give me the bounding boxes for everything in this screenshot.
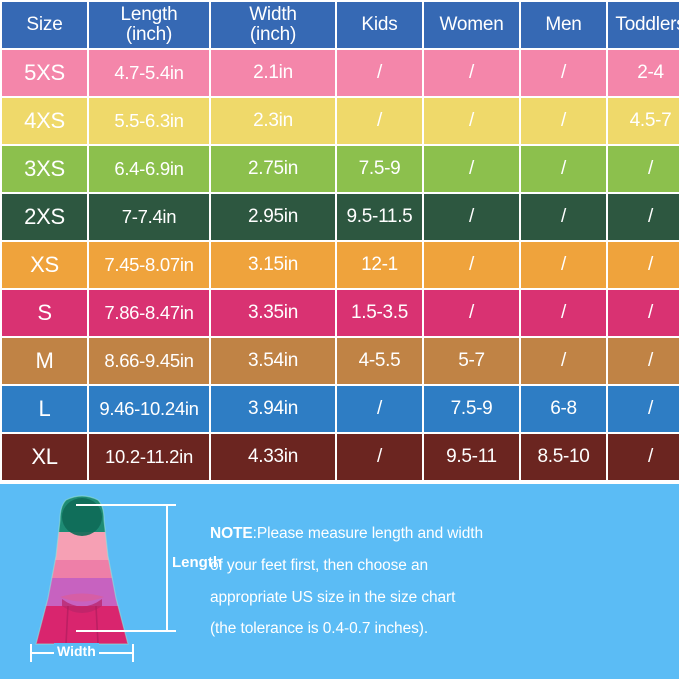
cell-women: / xyxy=(424,98,519,144)
cell-width: 4.33in xyxy=(211,434,335,480)
cell-toddlers: / xyxy=(608,290,679,336)
cell-women: 9.5-11 xyxy=(424,434,519,480)
length-label: Length xyxy=(172,554,222,571)
cell-kids: 1.5-3.5 xyxy=(337,290,422,336)
cell-size: L xyxy=(2,386,87,432)
note-line-text: appropriate US size in the size chart xyxy=(210,589,455,606)
cell-length: 9.46-10.24in xyxy=(89,386,209,432)
cell-men: / xyxy=(521,338,606,384)
width-arrow-right xyxy=(132,644,134,662)
note-line: of your feet first, then choose an xyxy=(210,550,661,582)
cell-length: 5.5-6.3in xyxy=(89,98,209,144)
cell-width: 2.75in xyxy=(211,146,335,192)
cell-length: 7.45-8.07in xyxy=(89,242,209,288)
length-arrow-bottom xyxy=(158,630,176,632)
table-row: S7.86-8.47in3.35in1.5-3.5/// xyxy=(2,290,679,336)
cell-women: / xyxy=(424,50,519,96)
length-leader-bottom xyxy=(76,630,166,632)
cell-women: / xyxy=(424,242,519,288)
cell-size: 4XS xyxy=(2,98,87,144)
length-arrow-top xyxy=(158,504,176,506)
cell-kids: 7.5-9 xyxy=(337,146,422,192)
cell-size: 2XS xyxy=(2,194,87,240)
column-header-kids: Kids xyxy=(337,2,422,48)
table-row: XS7.45-8.07in3.15in12-1/// xyxy=(2,242,679,288)
column-header-length: Length (inch) xyxy=(89,2,209,48)
column-header-size: Size xyxy=(2,2,87,48)
cell-toddlers: 2-4 xyxy=(608,50,679,96)
cell-length: 6.4-6.9in xyxy=(89,146,209,192)
cell-women: 7.5-9 xyxy=(424,386,519,432)
table-header: Size Length (inch) Width (inch) Kids Wom… xyxy=(2,2,679,48)
cell-toddlers: / xyxy=(608,386,679,432)
size-chart: Size Length (inch) Width (inch) Kids Wom… xyxy=(0,0,679,679)
cell-men: 6-8 xyxy=(521,386,606,432)
column-header-women: Women xyxy=(424,2,519,48)
note-text-block: NOTE:Please measure length and width of … xyxy=(206,484,679,679)
cell-length: 7-7.4in xyxy=(89,194,209,240)
cell-women: 5-7 xyxy=(424,338,519,384)
cell-size: M xyxy=(2,338,87,384)
note-label: NOTE xyxy=(210,525,253,542)
header-row: Size Length (inch) Width (inch) Kids Wom… xyxy=(2,2,679,48)
fin-diagram: Length Width xyxy=(0,484,206,679)
table-row: M8.66-9.45in3.54in4-5.55-7// xyxy=(2,338,679,384)
header-label: Size xyxy=(26,14,62,35)
width-arrow-left xyxy=(30,644,32,662)
cell-width: 3.35in xyxy=(211,290,335,336)
table-row: 4XS5.5-6.3in2.3in///4.5-7 xyxy=(2,98,679,144)
cell-size: S xyxy=(2,290,87,336)
width-label: Width xyxy=(54,643,99,659)
cell-kids: 12-1 xyxy=(337,242,422,288)
cell-length: 10.2-11.2in xyxy=(89,434,209,480)
table-row: L9.46-10.24in3.94in/7.5-96-8/ xyxy=(2,386,679,432)
cell-width: 2.3in xyxy=(211,98,335,144)
cell-toddlers: / xyxy=(608,146,679,192)
cell-length: 4.7-5.4in xyxy=(89,50,209,96)
cell-toddlers: / xyxy=(608,194,679,240)
table-row: 2XS7-7.4in2.95in9.5-11.5/// xyxy=(2,194,679,240)
cell-length: 8.66-9.45in xyxy=(89,338,209,384)
cell-width: 2.95in xyxy=(211,194,335,240)
column-header-toddlers: Toddlers xyxy=(608,2,679,48)
header-label: Men xyxy=(545,14,581,35)
cell-women: / xyxy=(424,146,519,192)
header-label: Kids xyxy=(361,14,397,35)
cell-width: 3.54in xyxy=(211,338,335,384)
cell-size: XL xyxy=(2,434,87,480)
cell-men: / xyxy=(521,194,606,240)
note-line-text: (the tolerance is 0.4-0.7 inches). xyxy=(210,620,428,637)
cell-kids: 9.5-11.5 xyxy=(337,194,422,240)
cell-width: 3.94in xyxy=(211,386,335,432)
size-table: Size Length (inch) Width (inch) Kids Wom… xyxy=(0,0,679,482)
cell-men: / xyxy=(521,98,606,144)
length-line xyxy=(166,504,168,632)
header-sublabel: (inch) xyxy=(211,25,335,45)
note-line: NOTE:Please measure length and width xyxy=(210,518,661,550)
cell-kids: / xyxy=(337,98,422,144)
table-body: 5XS4.7-5.4in2.1in///2-44XS5.5-6.3in2.3in… xyxy=(2,50,679,480)
cell-men: / xyxy=(521,290,606,336)
cell-kids: / xyxy=(337,434,422,480)
note-line: (the tolerance is 0.4-0.7 inches). xyxy=(210,613,661,645)
cell-women: / xyxy=(424,290,519,336)
cell-toddlers: / xyxy=(608,242,679,288)
cell-toddlers: / xyxy=(608,338,679,384)
header-label: Women xyxy=(439,14,503,35)
width-dimension: Width xyxy=(26,642,146,664)
cell-size: 3XS xyxy=(2,146,87,192)
cell-kids: / xyxy=(337,386,422,432)
cell-kids: / xyxy=(337,50,422,96)
cell-men: / xyxy=(521,146,606,192)
table-row: XL10.2-11.2in4.33in/9.5-118.5-10/ xyxy=(2,434,679,480)
column-header-width: Width (inch) xyxy=(211,2,335,48)
cell-toddlers: 4.5-7 xyxy=(608,98,679,144)
cell-width: 2.1in xyxy=(211,50,335,96)
header-sublabel: (inch) xyxy=(89,25,209,45)
header-label: Width xyxy=(249,4,297,25)
note-line: appropriate US size in the size chart xyxy=(210,582,661,614)
cell-men: / xyxy=(521,242,606,288)
length-dimension: Length xyxy=(128,498,188,638)
cell-length: 7.86-8.47in xyxy=(89,290,209,336)
note-line-text: :Please measure length and width xyxy=(253,525,483,542)
cell-size: XS xyxy=(2,242,87,288)
cell-toddlers: / xyxy=(608,434,679,480)
table-row: 3XS6.4-6.9in2.75in7.5-9/// xyxy=(2,146,679,192)
note-line-text: of your feet first, then choose an xyxy=(210,557,428,574)
footer-panel: Length Width NOTE:Please measure length … xyxy=(0,482,679,679)
cell-men: / xyxy=(521,50,606,96)
cell-size: 5XS xyxy=(2,50,87,96)
header-label: Length xyxy=(121,4,178,25)
header-label: Toddlers xyxy=(615,14,679,35)
column-header-men: Men xyxy=(521,2,606,48)
cell-kids: 4-5.5 xyxy=(337,338,422,384)
cell-men: 8.5-10 xyxy=(521,434,606,480)
cell-women: / xyxy=(424,194,519,240)
cell-width: 3.15in xyxy=(211,242,335,288)
table-row: 5XS4.7-5.4in2.1in///2-4 xyxy=(2,50,679,96)
length-leader-top xyxy=(76,504,166,506)
